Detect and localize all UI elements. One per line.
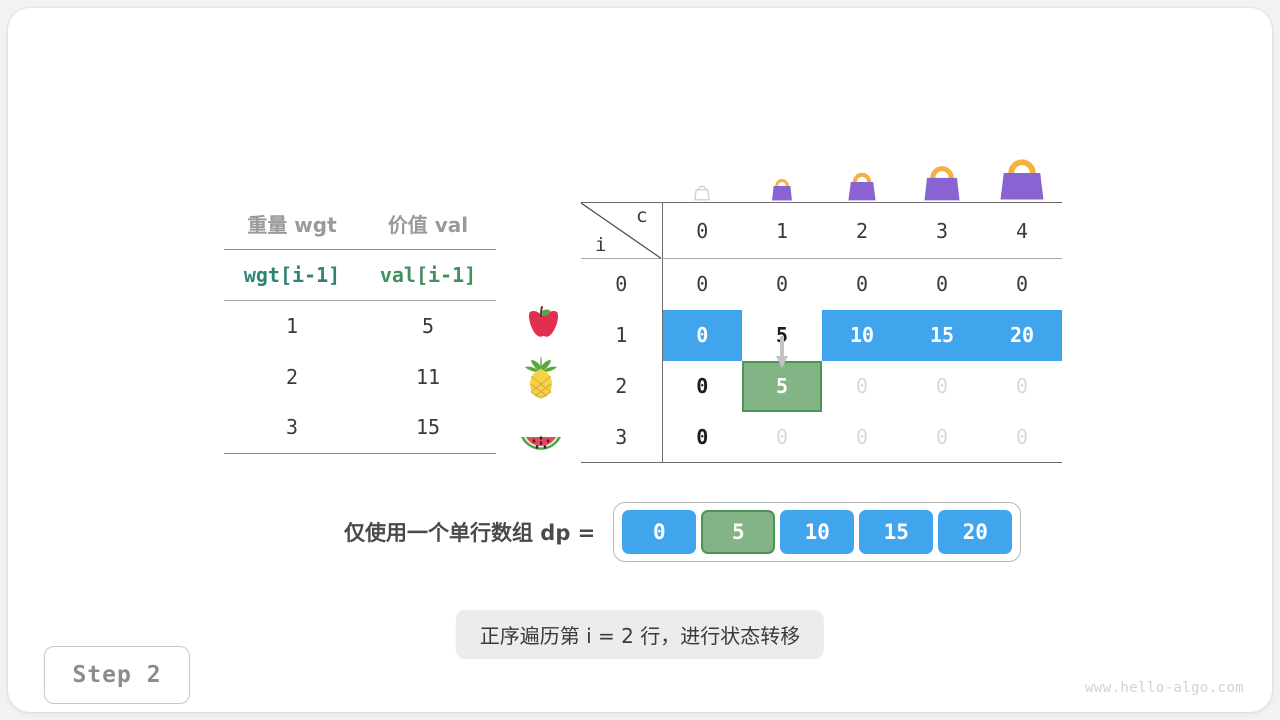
table-row: 1 5 [224,300,496,351]
dp-cell-value: 0 [856,374,868,398]
dp-cell-2-2: 0 [822,361,902,412]
dp-cell-0-4: 0 [982,259,1062,310]
dp-corner-cell: c i [581,203,662,259]
dp-row-header-1: 1 [581,310,662,361]
bag-icon-1 [742,176,822,202]
dp-cell-value: 0 [856,272,868,296]
dp-table-region: c i 0 1 2 3 4 0 0 0 0 0 0 1 [581,144,1062,463]
dp-row-axis-label: i [595,234,606,256]
dp-col-header-4: 4 [982,203,1062,259]
dp-cell-value: 0 [696,272,708,296]
dp-array-label: 仅使用一个单行数组 dp = [344,517,595,547]
dp-row-header-2: 2 [581,361,662,412]
dp-array-region: 仅使用一个单行数组 dp = 0 5 10 15 20 [344,502,1021,562]
table-row: 2 11 [224,351,496,402]
dp-cell-3-1: 0 [742,412,822,463]
dp-array-cell-2: 10 [780,510,854,554]
dp-cell-value: 0 [696,323,708,347]
item-weight-3: 3 [224,402,360,453]
items-table-header-row: 重量 wgt 价值 val [224,198,496,249]
dp-cell-value: 10 [850,323,874,347]
dp-cell-value: 0 [1016,272,1028,296]
dp-cell-value: 5 [776,374,788,398]
apple-icon [516,301,566,351]
dp-row-2: 2 0 5 0 0 0 [581,361,1062,412]
dp-cell-value: 0 [936,272,948,296]
dp-cell-2-0: 0 [662,361,742,412]
table-row: 3 15 [224,402,496,453]
dp-cell-0-1: 0 [742,259,822,310]
dp-col-header-2: 2 [822,203,902,259]
caption-text: 正序遍历第 i = 2 行，进行状态转移 [456,610,824,659]
dp-cell-value: 0 [696,374,708,398]
dp-cell-1-2: 10 [822,310,902,361]
dp-cell-0-3: 0 [902,259,982,310]
dp-cell-1-3: 15 [902,310,982,361]
dp-cell-3-4: 0 [982,412,1062,463]
dp-row-3: 3 0 0 0 0 0 [581,412,1062,463]
dp-row-0: 0 0 0 0 0 0 [581,259,1062,310]
dp-row-header-3: 3 [581,412,662,463]
bag-icon-3 [902,162,982,202]
dp-row-header-0: 0 [581,259,662,310]
dp-cell-value: 15 [930,323,954,347]
dp-cell-3-3: 0 [902,412,982,463]
dp-array-cell-0: 0 [622,510,696,554]
dp-table: c i 0 1 2 3 4 0 0 0 0 0 0 1 [581,202,1062,463]
bag-icon-empty [662,182,742,202]
dp-cell-0-0: 0 [662,259,742,310]
items-header-weight: 重量 wgt [224,198,360,249]
watermelon-icon [516,403,566,453]
dp-cell-value: 0 [856,425,868,449]
dp-cell-2-4: 0 [982,361,1062,412]
slide-card: 重量 wgt 价值 val wgt[i-1] val[i-1] 1 5 2 11 [8,8,1272,712]
step-badge: Step 2 [44,646,190,704]
dp-cell-3-2: 0 [822,412,902,463]
dp-array-strip: 0 5 10 15 20 [613,502,1021,562]
bag-icon-2 [822,170,902,202]
item-value-2: 11 [360,351,496,402]
transition-arrow-icon [775,334,789,375]
dp-col-header-0: 0 [662,203,742,259]
dp-col-header-3: 3 [902,203,982,259]
dp-cell-value: 0 [776,272,788,296]
dp-col-header-1: 1 [742,203,822,259]
dp-header-row: c i 0 1 2 3 4 [581,203,1062,259]
dp-cell-1-0: 0 [662,310,742,361]
item-weight-2: 2 [224,351,360,402]
dp-cell-value: 0 [1016,374,1028,398]
items-subheader-wgt: wgt[i-1] [224,249,360,300]
item-weight-1: 1 [224,300,360,351]
dp-cell-3-0: 0 [662,412,742,463]
dp-cell-0-2: 0 [822,259,902,310]
watermark: www.hello-algo.com [1085,680,1244,696]
dp-cell-value: 0 [696,425,708,449]
bag-icons-row [581,144,1062,202]
items-header-value: 价值 val [360,198,496,249]
pineapple-icon [516,352,566,402]
dp-array-cell-1: 5 [701,510,775,554]
dp-cell-value: 0 [936,425,948,449]
dp-cell-value: 20 [1010,323,1034,347]
dp-cell-value: 0 [936,374,948,398]
dp-array-cell-3: 15 [859,510,933,554]
dp-array-cell-4: 20 [938,510,1012,554]
dp-row-1: 1 0 5 10 [581,310,1062,361]
bag-icon-4 [982,154,1062,202]
item-value-1: 5 [360,300,496,351]
dp-cell-value: 0 [776,425,788,449]
dp-cell-1-4: 20 [982,310,1062,361]
dp-cell-1-1: 5 [742,310,822,361]
dp-cell-2-3: 0 [902,361,982,412]
dp-cell-value: 0 [1016,425,1028,449]
items-table: 重量 wgt 价值 val wgt[i-1] val[i-1] 1 5 2 11 [224,198,496,454]
items-subheader-val: val[i-1] [360,249,496,300]
item-value-3: 15 [360,402,496,453]
items-subheader-row: wgt[i-1] val[i-1] [224,249,496,300]
dp-col-axis-label: c [636,205,647,227]
